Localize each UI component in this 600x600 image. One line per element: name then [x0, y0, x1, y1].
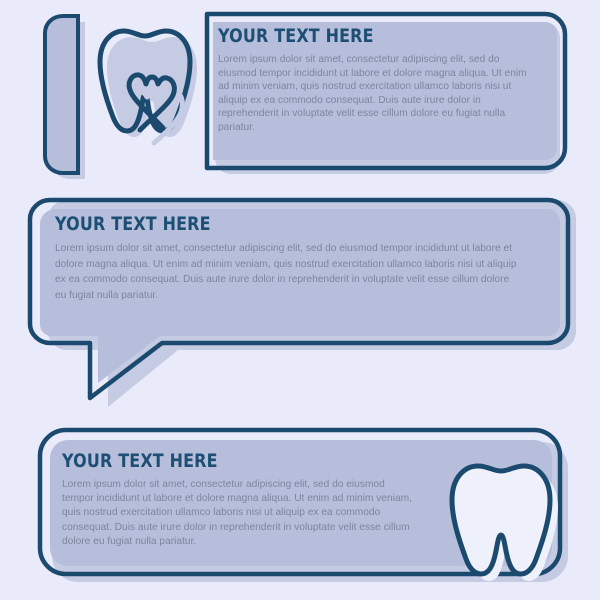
panel-two-body: Lorem ipsum dolor sit amet, consectetur … — [55, 241, 523, 303]
rounded-tab-bar — [45, 16, 78, 173]
panel-one-text-block: YOUR TEXT HERE Lorem ipsum dolor sit ame… — [218, 27, 538, 135]
tooth-heart-icon — [100, 31, 197, 143]
panel-two-text-block: YOUR TEXT HERE Lorem ipsum dolor sit ame… — [55, 215, 525, 303]
panel-two-heading: YOUR TEXT HERE — [55, 215, 450, 234]
infographic-canvas: YOUR TEXT HERE Lorem ipsum dolor sit ame… — [0, 0, 600, 600]
panel-three-heading: YOUR TEXT HERE — [62, 452, 360, 471]
panel-one-body: Lorem ipsum dolor sit amet, consectetur … — [218, 53, 536, 135]
panel-three-text-block: YOUR TEXT HERE Lorem ipsum dolor sit ame… — [62, 452, 417, 549]
panel-one-heading: YOUR TEXT HERE — [218, 27, 487, 46]
panel-three-body: Lorem ipsum dolor sit amet, consectetur … — [62, 478, 414, 549]
